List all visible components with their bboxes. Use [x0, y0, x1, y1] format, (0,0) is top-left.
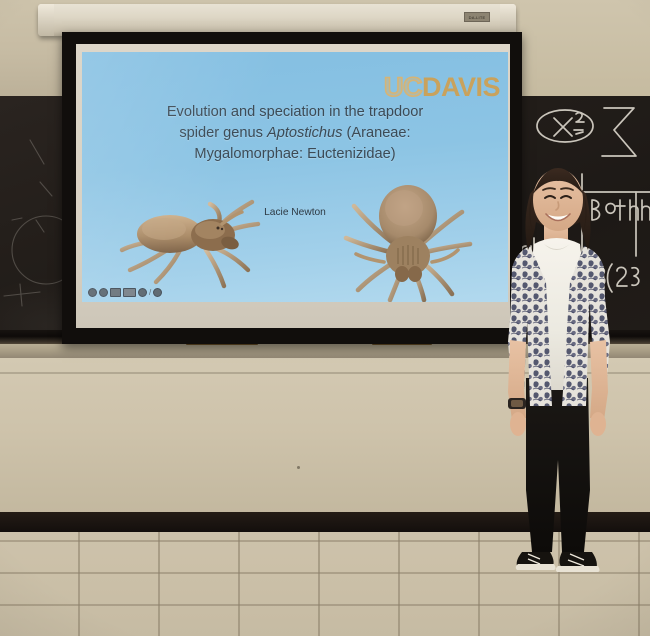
slide-title-line-3: Mygalomorphae: Euctenizidae): [100, 144, 490, 165]
sneaker-right: [556, 552, 600, 572]
slide-title: Evolution and speciation in the trapdoor…: [100, 102, 490, 165]
housing-end-cap-left: [38, 4, 54, 36]
uc-davis-logo-uc: UC: [384, 72, 422, 102]
footer-badge-icon: [153, 288, 162, 297]
wristwatch: [508, 398, 526, 409]
trapdoor-spider-lateral-image: [118, 188, 268, 292]
slide-title-line-2-suffix: (Araneae:: [342, 125, 410, 141]
footer-badge-icon: [88, 288, 97, 297]
slide-footer-logos: /: [88, 288, 162, 297]
genus-name-italic: Aptostichus: [267, 125, 342, 141]
slide-title-line-1: Evolution and speciation in the trapdoor: [100, 102, 490, 123]
sneaker-left: [516, 552, 556, 570]
slide-title-line-2-prefix: spider genus: [179, 125, 267, 141]
wall-upper-right: [520, 0, 650, 104]
footer-badge-icon: [99, 288, 108, 297]
chalkboard-faint-marks: [0, 100, 68, 340]
uc-davis-logo: UCDAVIS: [384, 74, 500, 101]
footer-badge-separator: /: [149, 288, 151, 297]
wall-mark: [297, 466, 300, 469]
slide-title-line-2: spider genus Aptostichus (Araneae:: [100, 123, 490, 144]
footer-badge-icon: [110, 288, 121, 297]
footer-badge-icon: [138, 288, 147, 297]
classroom-photo: DA-LITE UCDAVIS Evolution and speciation…: [0, 0, 650, 636]
footer-badge-icon: [123, 288, 136, 297]
uc-davis-logo-davis: DAVIS: [422, 72, 500, 102]
presenter-person: [478, 160, 638, 600]
presentation-slide[interactable]: UCDAVIS Evolution and speciation in the …: [82, 52, 508, 302]
housing-brand-label: DA-LITE: [464, 12, 490, 22]
trapdoor-spider-dorsal-image: [340, 178, 476, 302]
